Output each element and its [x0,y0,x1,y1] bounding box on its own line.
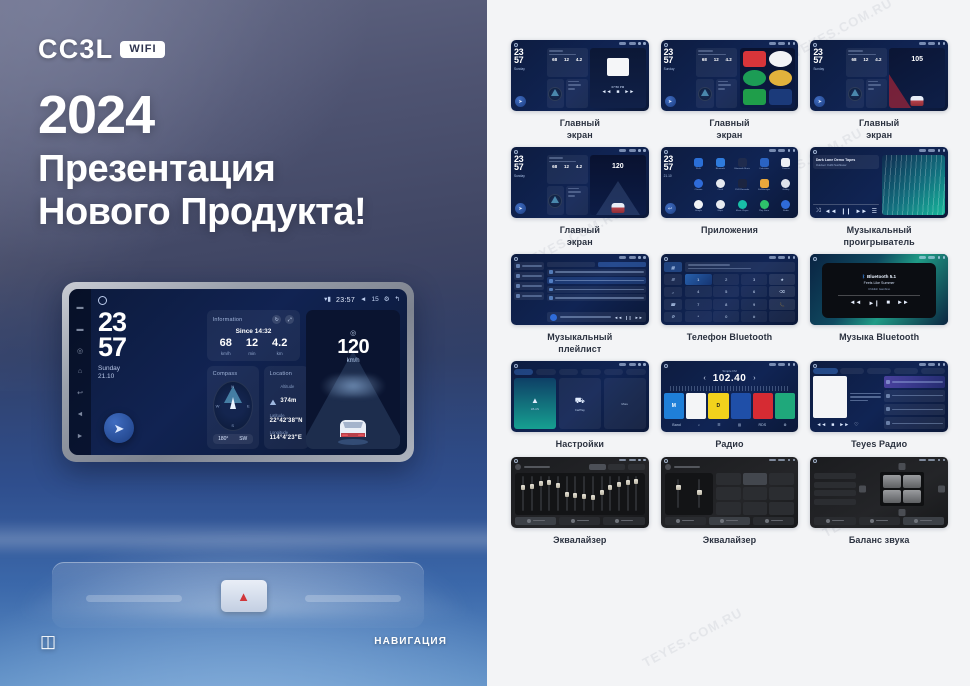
rail-button-settings[interactable]: ◎ [76,346,85,355]
gallery-item[interactable]: Баланс звука [810,457,948,547]
playlist-nav-item [514,262,544,270]
eq-footer-button [515,517,556,525]
rail-button-volume-down[interactable]: ◄ [76,410,85,419]
balance-footer-button [859,517,900,525]
balance-left-button[interactable] [859,486,866,493]
app-item: Music Player [733,196,752,215]
dial-key[interactable]: 0 [713,311,739,322]
rail-button-back[interactable]: ↩ [76,389,85,398]
seat [883,475,901,488]
eq-band [531,476,533,511]
screenshot-radio[interactable]: Simple FM ‹ 102.40 › M D [661,361,799,432]
teyes-radio-controls[interactable]: ◄◄ ■ ►► ♡ [813,420,880,429]
gallery-item[interactable]: 23 57 Sunday ➤ 68124.2 [661,40,799,141]
teyes-station-list[interactable] [884,376,945,429]
dial-key[interactable]: 2 [713,274,739,285]
seat-layout [880,472,924,506]
balance-footer[interactable] [814,517,944,525]
previous-icon[interactable]: ◄◄ [816,422,826,428]
previous-icon[interactable]: ◄◄ [849,300,861,307]
eq-band [592,476,594,511]
gallery-caption: Главныйэкран [709,118,749,141]
settings-tab [559,369,578,375]
app-label: Clock [718,189,723,191]
home-icon [664,257,668,261]
bt-transport-controls[interactable]: ◄◄ ►❙ ■ ►► [849,300,908,307]
gallery-item[interactable]: 23 57 Sunday ➤ 68124.2 [511,147,649,248]
teyes-radio-tab [894,368,918,374]
trip-speed-value: 68 [220,338,232,349]
eq-band [566,476,568,511]
app-label: Maps [718,210,723,212]
hero-headline-1: Презентация [38,148,366,191]
settings-icon[interactable]: ⚙ [783,423,786,427]
radio-frequency: 102.40 [713,373,747,384]
eq-band [601,476,603,511]
app-label: Calculator [759,168,769,170]
app-item: Wi-Fi [689,155,708,174]
volume-icon: ◄ [360,297,366,304]
product-logo: CC3L WIFI [38,34,165,65]
next-icon[interactable]: ►► [839,422,849,428]
settings-icon[interactable]: ⚙ [664,312,682,322]
latitude-value: 22°42'38"N [270,418,303,424]
screenshot-playlist[interactable]: ◄◄❙❙►► [511,254,649,325]
next-icon: ►► [635,315,643,320]
hero-headline-2: Нового Продукта! [38,191,366,234]
gallery-caption: Телефон Bluetooth [687,332,773,344]
settings-card-label: WLAN [531,407,539,411]
trip-duration-value: 12 [246,338,258,349]
information-title: Information [213,317,243,323]
screenshot-settings[interactable]: ▲ WLAN ⛟ CarPlay More [511,361,649,432]
latitude-row: Latitude 22°42'38"N [270,413,303,424]
navigation-arrow-icon: ➤ [515,203,526,214]
status-bar: ▾▮ 23:57 ◄ 15 ⚙ ↰ [98,295,400,306]
contacts-icon[interactable]: ☰ [664,274,682,284]
equalizer-presets[interactable] [589,464,645,470]
next-icon[interactable]: ►► [897,300,909,307]
previous-icon: ◄◄ [614,315,622,320]
teyes-radio-tab [921,368,945,374]
home-icon [813,459,817,463]
eq-footer-button [753,517,794,525]
trip-distance-unit: km [272,351,287,356]
seat [903,490,921,503]
dial-key-backspace[interactable]: ⌫ [769,286,795,297]
speed-panel[interactable]: ◎ 120 km/h [306,310,400,449]
hero-footer-label: НАВИГАЦИЯ [374,636,447,647]
band-icon[interactable]: Band [672,423,680,427]
screenshot-teyes-radio[interactable]: ◄◄ ■ ►► ♡ [810,361,948,432]
balance-preset [814,499,855,505]
equalizer-icon [515,464,521,470]
tile-speed-value: 120 [590,163,646,170]
equalizer-footer[interactable] [665,517,795,525]
dial-key-call[interactable]: 📞 [769,299,795,310]
app-item: Maps [711,196,730,215]
list-item [884,404,945,416]
eq-preset-key [769,502,794,515]
trip-stat-speed: 68 km/h [220,338,232,356]
info-column: Information ↻ ⤢ Since 14:32 68 [207,310,301,449]
settings-tab [604,369,623,375]
speed-unit: km/h [306,358,400,364]
playlist-tab [598,262,646,267]
playlist-nav-item [514,292,544,300]
screenshot-music-player[interactable]: Dark Lane Demo Tapes Outdoor Outfit Sunf… [810,147,948,218]
compass-direction: SW [239,436,247,442]
head-unit-ui: ▾▮ 23:57 ◄ 15 ⚙ ↰ 23 57 Sunday 21. [91,289,407,455]
home-icon [514,150,518,154]
list-item [547,286,645,293]
list-item [884,390,945,402]
eq-band [548,476,550,511]
dial-key[interactable]: 9 [741,299,767,310]
bt-progress-bar[interactable] [838,295,920,296]
dial-key[interactable]: # [741,311,767,322]
eq-preset-key [743,473,768,486]
car-3d-model [333,411,373,445]
pause-icon: ❙❙ [625,315,632,320]
dialpad-icon[interactable]: ▦ [664,262,682,272]
balance-preset [814,473,855,479]
app-item: Calculator [755,155,774,174]
back-arrow-icon[interactable]: ↰ [395,297,400,304]
gallery-item[interactable]: ◄◄❙❙►► Музыкальныйплейлист [511,254,649,355]
trip-duration-unit: min [246,351,258,356]
dial-key[interactable] [769,311,795,322]
home-icon [664,43,668,47]
screenshot-home-speed-red[interactable]: 23 57 Sunday ➤ 68124.2 [810,40,948,111]
trip-stat-duration: 12 min [246,338,258,356]
navigation-arrow-icon: ➤ [665,96,676,107]
playlist-tracks[interactable]: ◄◄❙❙►► [547,262,645,322]
settings-tabs[interactable] [514,369,646,375]
trip-stats: 68 km/h 12 min 4.2 km [213,338,295,356]
radio-tuner[interactable]: ‹ 102.40 › [664,373,796,384]
app-item: Gallery [776,176,795,195]
compass-dial: N S W E [213,381,253,431]
settings-cards[interactable]: ▲ WLAN ⛟ CarPlay More [514,378,646,429]
playlist-mini-player[interactable]: ◄◄❙❙►► [547,312,645,322]
presentation-page: CC3L WIFI 2024 Презентация Нового Продук… [0,0,970,686]
settings-tab [626,369,645,375]
longitude-value: 114°4'23"E [270,435,303,441]
player-track-artist: Outdoor Outfit Sunflower [816,163,877,167]
app-label: Chrome [695,189,703,191]
gallery-item[interactable]: Simple FM ‹ 102.40 › M D [661,361,799,451]
pause-icon[interactable]: ❙❙ [841,208,851,215]
app-label: Wi-Fi [696,168,701,170]
horizon-glow [306,375,400,397]
shuffle-icon[interactable]: ⤨ [816,208,821,215]
hero-year: 2024 [38,88,366,142]
settings-card-wifi[interactable]: ▲ WLAN [514,378,556,429]
eq-preset-key [716,487,741,500]
rds-icon[interactable]: RDS [759,423,767,427]
hero-footer: ◫ НАВИГАЦИЯ [0,633,487,650]
wifi-icon: ▾▮ [324,297,331,304]
expand-icon[interactable]: ⤢ [285,315,294,324]
air-vent-right [305,595,401,602]
tile-clock-day: Sunday [813,67,843,71]
tile-speed-value: 105 [889,56,945,63]
rail-button-mute[interactable]: ▬ [76,325,85,334]
gallery-item[interactable]: 23 57 Sunday ➤ 68124.2 [810,40,948,141]
app-label: Radio [783,210,789,212]
app-label: DVR Recorder [735,189,749,191]
location-title: Location [270,371,303,377]
dial-key[interactable]: * [685,311,711,322]
teyes-radio-tab [840,368,864,374]
bt-song-artist: Childish Gambino [868,287,890,291]
tile-clock-minutes: 57 [664,163,686,171]
gallery-item[interactable]: ◄◄ ■ ►► ♡ [810,361,948,451]
refresh-icon[interactable]: ↻ [272,315,281,324]
prev-station-icon[interactable]: ‹ [703,375,705,382]
equalizer-preset[interactable] [628,464,645,470]
phone-sidebar[interactable]: ▦ ☰ ⌕ ☎ ⚙ [664,262,682,322]
screenshot-bluetooth-phone[interactable]: ▦ ☰ ⌕ ☎ ⚙ 1 2 [661,254,799,325]
trip-stat-distance: 4.2 km [272,338,287,356]
home-screen-grid: 23 57 Sunday 21.10 ➤ I [98,310,400,449]
equalizer-icon [665,464,671,470]
dial-key[interactable]: 1 [685,274,711,285]
app-label: FileManager [758,189,770,191]
app-item: DVR Recorder [733,176,752,195]
teyes-radio-tabs[interactable] [813,368,945,374]
search-icon[interactable]: ⌕ [664,287,682,297]
eq-band [574,476,576,511]
player-controls[interactable]: ⤨ ◄◄ ❙❙ ►► ☰ [813,208,879,215]
play-pause-icon[interactable]: ►❙ [868,300,879,307]
gallery-item[interactable]: Эквалайзер [511,457,649,547]
rail-button-volume-up[interactable]: ► [76,432,85,441]
home-icon [813,43,817,47]
station-cover-art [813,376,847,418]
list-item [884,417,945,429]
eq-icon[interactable]: ▥ [738,423,741,427]
dial-key[interactable]: 3 [741,274,767,285]
radio-preset[interactable] [686,393,706,419]
compass-east: E [247,404,250,409]
app-grid[interactable]: Wi-Fi Bluetooth Bluetooth Music Calculat… [689,155,795,215]
dial-key[interactable]: 5 [713,286,739,297]
gallery-item[interactable]: Эквалайзер [661,457,799,547]
list-item [547,269,645,276]
eq-band [522,476,524,511]
trip-speed-unit: km/h [220,351,232,356]
eq-preset-key [769,487,794,500]
dial-key[interactable]: 7 [685,299,711,310]
balance-rear-button[interactable] [898,509,905,516]
screenshot-equalizer[interactable] [511,457,649,528]
balance-right-button[interactable] [938,486,945,493]
eq-preset-key [743,502,768,515]
bluetooth-icon: ᛒ [862,274,865,279]
status-clock: 23:57 [336,297,355,304]
home-icon [664,459,668,463]
navigation-arrow-icon: ➤ [814,96,825,107]
altitude-row: ⛰ Altitude 374m [270,384,303,407]
balance-front-button[interactable] [898,463,905,470]
balance-preset-list[interactable] [814,464,855,515]
eq-band [635,476,637,511]
gallery-item[interactable]: ᛒ Bluetooth 5.1 Feels Like Summer Childi… [810,254,948,355]
equalizer-preset[interactable] [608,464,625,470]
eq-band [583,476,585,511]
wifi-icon: ▲ [531,396,539,405]
trip-distance-value: 4.2 [272,338,287,349]
car-icon: ⛟ [575,396,585,406]
radio-preset[interactable]: M [664,393,684,419]
rail-button-home[interactable]: ⌂ [76,367,85,376]
gallery-caption: Музыкальныйпроигрыватель [844,225,915,248]
gallery-item[interactable]: ▲ WLAN ⛟ CarPlay More [511,361,649,451]
app-label: Play Store [759,210,769,212]
equalizer-preset[interactable] [589,464,606,470]
call-history-icon[interactable]: ☎ [664,299,682,309]
app-item: FileManager [755,176,774,195]
player-track-name: Dark Lane Demo Tapes [816,158,877,162]
app-item: Bluetooth [711,155,730,174]
eq-band [618,476,620,511]
gallery-caption: Эквалайзер [703,535,756,547]
screenshot-home-media[interactable]: 23 57 Sunday ➤ 68124.2 [511,40,649,111]
radio-preset[interactable]: D [708,393,728,419]
hazard-light-button[interactable]: ▲ [221,580,267,612]
back-arrow-icon: ↩ [665,203,676,214]
radio-preset[interactable] [753,393,773,419]
radio-frequency-scale[interactable] [670,386,790,391]
dialpad-keys[interactable]: 1 2 3 ★ 4 5 6 ⌫ 7 8 9 📞 [685,274,795,322]
list-icon[interactable]: ☰ [872,208,877,215]
settings-tab [536,369,555,375]
gear-icon[interactable]: ⚙ [384,297,390,304]
clock-day: Sunday [98,365,201,374]
compass-west: W [216,404,220,409]
information-card[interactable]: Information ↻ ⤢ Since 14:32 68 [207,310,301,361]
gallery-item[interactable]: Dark Lane Demo Tapes Outdoor Outfit Sunf… [810,147,948,248]
speed-value: 120 [306,337,400,357]
equalizer-sliders[interactable] [665,473,713,515]
compass-north: N [231,384,234,389]
compass-heading: 180° [218,436,228,442]
rail-button-power[interactable]: ▬ [76,303,85,312]
radio-preset[interactable] [731,393,751,419]
music-visualizer [882,155,945,215]
navigation-arrow-icon: ➤ [114,422,125,435]
playlist-nav-item [514,282,544,290]
playlist-nav-item [514,272,544,280]
navigation-shortcut-button[interactable]: ➤ [104,413,134,443]
radio-toolbar[interactable]: Band ⌕ ☰ ▥ RDS ⚙ [664,421,796,429]
speedometer-icon: ◎ [306,329,400,337]
dial-key[interactable]: 6 [741,286,767,297]
tile-clock-minutes: 57 [813,56,843,64]
eq-band [557,476,559,511]
settings-card-more[interactable]: More [604,378,646,429]
stop-icon[interactable]: ■ [831,422,834,428]
list-item [884,376,945,388]
dial-key-star[interactable]: ★ [769,274,795,285]
gallery-item[interactable]: ▦ ☰ ⌕ ☎ ⚙ 1 2 [661,254,799,355]
trip-since-label: Since 14:32 [213,328,295,335]
previous-icon[interactable]: ◄◄ [825,209,837,215]
hardware-button-rail[interactable]: ▬ ▬ ◎ ⌂ ↩ ◄ ► [69,289,91,455]
home-icon [664,364,668,368]
app-label: Music Player [736,210,749,212]
balance-footer-button [814,517,855,525]
clock-minutes: 57 [98,335,201,360]
gallery-item[interactable]: 23 57 Sunday ➤ 68124.2 [511,40,649,141]
screenshot-apps[interactable]: 23 57 21.10 ↩ Wi-Fi Bluetooth Bluetooth … [661,147,799,218]
next-icon[interactable]: ►► [855,209,867,215]
home-icon [813,150,817,154]
settings-tab [581,369,600,375]
teyes-radio-tab [867,368,891,374]
app-label: Google [695,210,702,212]
bluetooth-music-panel: ᛒ Bluetooth 5.1 Feels Like Summer Childi… [822,263,936,318]
clock-date: 21.10 [98,373,201,382]
screenshot-bluetooth-music[interactable]: ᛒ Bluetooth 5.1 Feels Like Summer Childi… [810,254,948,325]
playlist-sidebar[interactable] [514,262,544,322]
tile-clock-day: Sunday [514,174,544,178]
radio-presets[interactable]: M D [664,393,796,419]
longitude-row: Longitude 114°4'23"E [270,430,303,441]
next-station-icon[interactable]: › [753,375,755,382]
app-label: Bluetooth [716,168,725,170]
stop-icon[interactable]: ■ [886,300,890,307]
location-card[interactable]: Location ⛰ Altitude 374m [264,366,309,449]
settings-tab [514,369,533,375]
list-icon[interactable]: ☰ [717,423,720,427]
screenshot-home-speed[interactable]: 23 57 Sunday ➤ 68124.2 [511,147,649,218]
layers-icon[interactable]: ◫ [40,633,56,650]
eq-preset-key [716,502,741,515]
compass-readout: 180° SW [213,434,253,444]
search-icon[interactable]: ⌕ [698,423,700,427]
screenshot-equalizer-2[interactable] [661,457,799,528]
tile-clock-minutes: 57 [514,163,544,171]
dial-key[interactable]: 8 [713,299,739,310]
app-label: Bluetooth Music [734,168,750,170]
player-progress-bar[interactable] [813,204,879,205]
compass-needle [230,397,236,409]
favorite-icon[interactable]: ♡ [854,422,858,428]
dial-key[interactable]: 4 [685,286,711,297]
home-icon[interactable] [98,296,107,305]
equalizer-bands[interactable] [515,473,645,515]
radio-preset[interactable] [775,393,795,419]
gallery-caption: Музыка Bluetooth [839,332,919,344]
screenshot-home-apps[interactable]: 23 57 Sunday ➤ 68124.2 [661,40,799,111]
eq-preset-key [769,473,794,486]
screenshot-sound-balance[interactable] [810,457,948,528]
bluetooth-version-title: ᛒ Bluetooth 5.1 [862,274,896,279]
gallery-item[interactable]: 23 57 21.10 ↩ Wi-Fi Bluetooth Bluetooth … [661,147,799,248]
compass-card[interactable]: Compass N S W E 180° [207,366,259,449]
eq-band [540,476,542,511]
equalizer-footer[interactable] [515,517,645,525]
gallery-caption: Главныйэкран [560,225,600,248]
altitude-value: 374m [280,398,296,404]
balance-stage[interactable] [860,464,944,515]
head-unit-screen[interactable]: ▬ ▬ ◎ ⌂ ↩ ◄ ► ▾▮ 23:57 ◄ 15 [69,289,407,455]
settings-card-carplay[interactable]: ⛟ CarPlay [559,378,601,429]
equalizer-preset-grid[interactable] [716,473,795,515]
